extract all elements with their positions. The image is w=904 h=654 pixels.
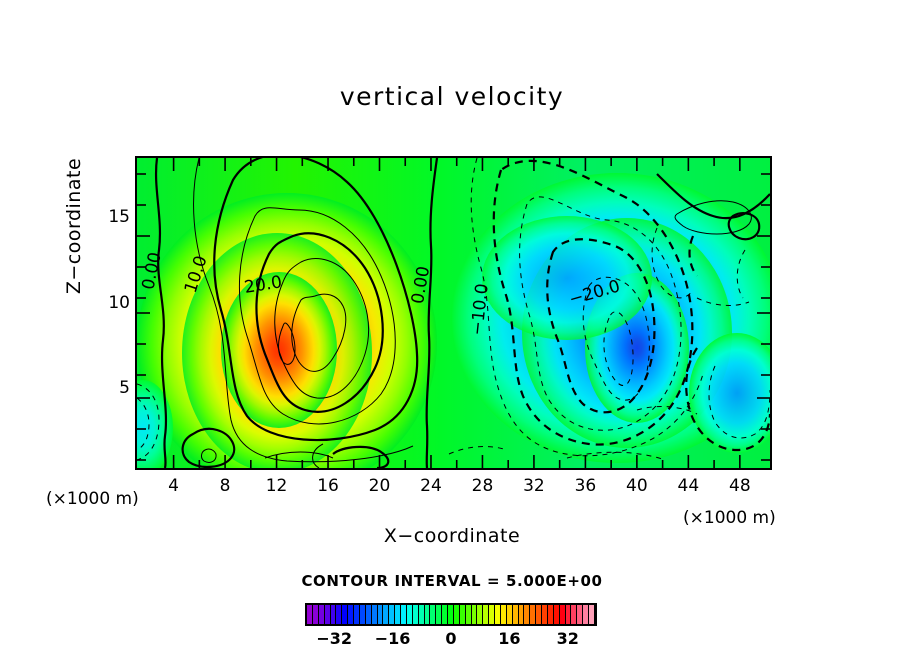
colorbar-tick-label: −32 — [304, 629, 364, 648]
colorbar — [305, 603, 597, 626]
y-tick-label: 15 — [96, 207, 130, 227]
x-axis-label: X−coordinate — [0, 525, 904, 547]
y-tick-label: 10 — [96, 293, 130, 313]
contour-field: 0.0010.020.00.00−10.0−20.0 — [137, 158, 770, 468]
colorbar-labels: −32−1601632 — [305, 629, 597, 651]
y-axis-label: Z−coordinate — [63, 126, 85, 326]
colorbar-tick-label: −16 — [363, 629, 423, 648]
colorbar-swatch — [589, 605, 595, 624]
colorbar-swatches — [307, 605, 595, 624]
colorbar-tick-label: 32 — [538, 629, 598, 648]
colorbar-tick-label: 0 — [421, 629, 481, 648]
y-tick-label: 5 — [96, 378, 130, 398]
x-unit-left: (×1000 m) — [46, 489, 139, 509]
colorbar-tick-label: 16 — [479, 629, 539, 648]
x-unit-right: (×1000 m) — [683, 508, 776, 528]
page-title: vertical velocity — [0, 82, 904, 111]
contour-plot-frame: 0.0010.020.00.00−10.0−20.0 — [135, 156, 772, 470]
x-tick-label: 48 — [710, 476, 770, 496]
contour-interval-caption: CONTOUR INTERVAL = 5.000E+00 — [0, 572, 904, 590]
